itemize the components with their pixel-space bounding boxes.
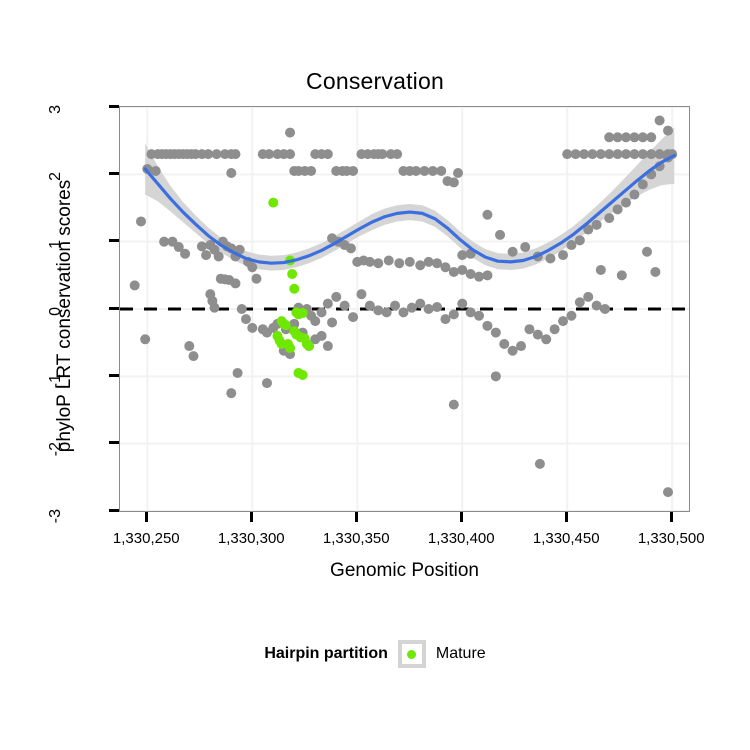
x-tick-mark bbox=[670, 512, 673, 522]
legend-label-mature: Mature bbox=[436, 645, 486, 663]
y-tick-mark bbox=[109, 105, 119, 108]
y-tick-label: -1 bbox=[47, 374, 65, 388]
y-axis-title: phyloP LRT conservation scores bbox=[54, 106, 76, 526]
data-points-mature bbox=[268, 198, 314, 380]
y-tick-label: 3 bbox=[47, 105, 65, 114]
conservation-scatter-plot: Conservation phyloP LRT conservation sco… bbox=[0, 0, 750, 750]
y-tick-mark bbox=[109, 172, 119, 175]
legend-title: Hairpin partition bbox=[264, 645, 388, 663]
legend-key-mature[interactable] bbox=[398, 640, 426, 668]
x-tick-mark bbox=[565, 512, 568, 522]
x-tick-label: 1,330,300 bbox=[218, 530, 285, 547]
y-tick-label: 1 bbox=[47, 240, 65, 249]
x-tick-mark bbox=[250, 512, 253, 522]
x-tick-label: 1,330,500 bbox=[638, 530, 705, 547]
plot-panel bbox=[119, 106, 690, 512]
y-tick-label: 2 bbox=[47, 172, 65, 181]
y-tick-label: -3 bbox=[47, 509, 65, 523]
y-tick-label: 0 bbox=[47, 307, 65, 316]
x-tick-label: 1,330,400 bbox=[428, 530, 495, 547]
page-title: Conservation bbox=[0, 68, 750, 95]
legend-marker-icon bbox=[407, 650, 416, 659]
y-tick-mark bbox=[109, 374, 119, 377]
legend: Hairpin partition Mature bbox=[0, 640, 750, 668]
plot-canvas bbox=[120, 107, 689, 511]
data-points-other bbox=[130, 115, 678, 497]
x-tick-label: 1,330,350 bbox=[323, 530, 390, 547]
x-axis-title: Genomic Position bbox=[119, 560, 690, 582]
y-tick-label: -2 bbox=[47, 442, 65, 456]
y-tick-mark bbox=[109, 509, 119, 512]
x-tick-mark bbox=[460, 512, 463, 522]
y-tick-mark bbox=[109, 239, 119, 242]
x-tick-mark bbox=[355, 512, 358, 522]
y-tick-mark bbox=[109, 307, 119, 310]
y-tick-mark bbox=[109, 441, 119, 444]
x-tick-mark bbox=[145, 512, 148, 522]
x-tick-label: 1,330,250 bbox=[113, 530, 180, 547]
x-tick-label: 1,330,450 bbox=[533, 530, 600, 547]
